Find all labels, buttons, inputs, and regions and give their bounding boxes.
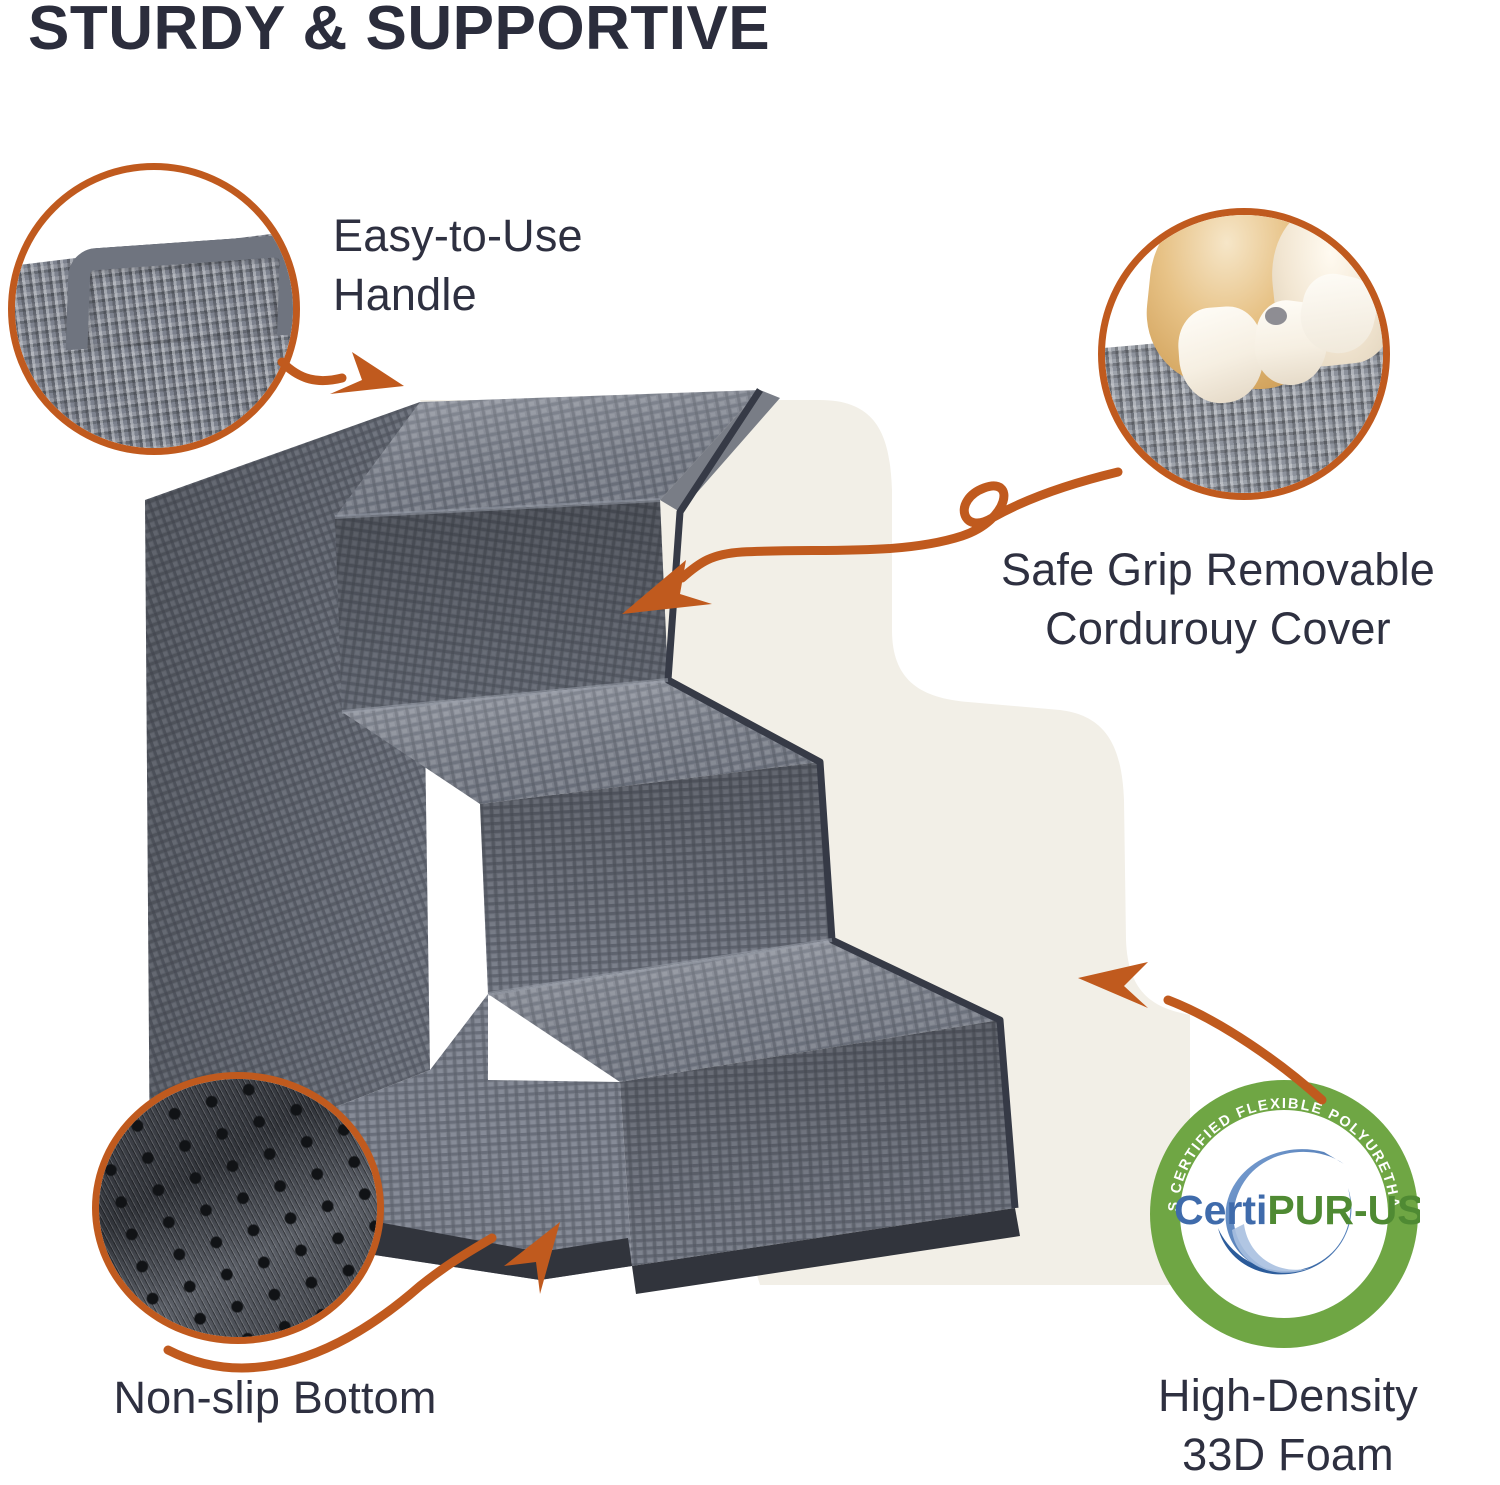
callout-nonslip-line1: Non-slip Bottom <box>40 1368 510 1427</box>
callout-cover-line2: Cordurouy Cover <box>938 599 1498 658</box>
dog-paws-photo <box>1098 208 1390 500</box>
callout-label-cover: Safe Grip Removable Cordurouy Cover <box>938 540 1498 659</box>
infographic-canvas: STURDY & SUPPORTIVE <box>0 0 1500 1485</box>
callout-label-handle: Easy-to-Use Handle <box>333 206 753 325</box>
handle-closeup-photo <box>8 163 300 455</box>
nonslip-dots <box>99 1079 377 1337</box>
callout-cover-line1: Safe Grip Removable <box>938 540 1498 599</box>
certipur-badge: CONTAINS CERTIFIED FLEXIBLE POLYURETHANE… <box>1148 1078 1420 1350</box>
callout-foam-line2: 33D Foam <box>1088 1425 1488 1484</box>
nonslip-bottom-photo <box>92 1072 384 1344</box>
paw-pad <box>1265 307 1287 325</box>
callout-foam-line1: High-Density <box>1088 1366 1488 1425</box>
page-title: STURDY & SUPPORTIVE <box>28 0 770 61</box>
badge-wordmark: CertiPUR-US® <box>1174 1187 1420 1233</box>
carry-handle-shape <box>66 234 293 351</box>
callout-handle-line1: Easy-to-Use <box>333 206 753 265</box>
callout-label-nonslip: Non-slip Bottom <box>40 1368 510 1427</box>
callout-handle-line2: Handle <box>333 265 753 324</box>
callout-label-foam: High-Density 33D Foam <box>1088 1366 1488 1485</box>
